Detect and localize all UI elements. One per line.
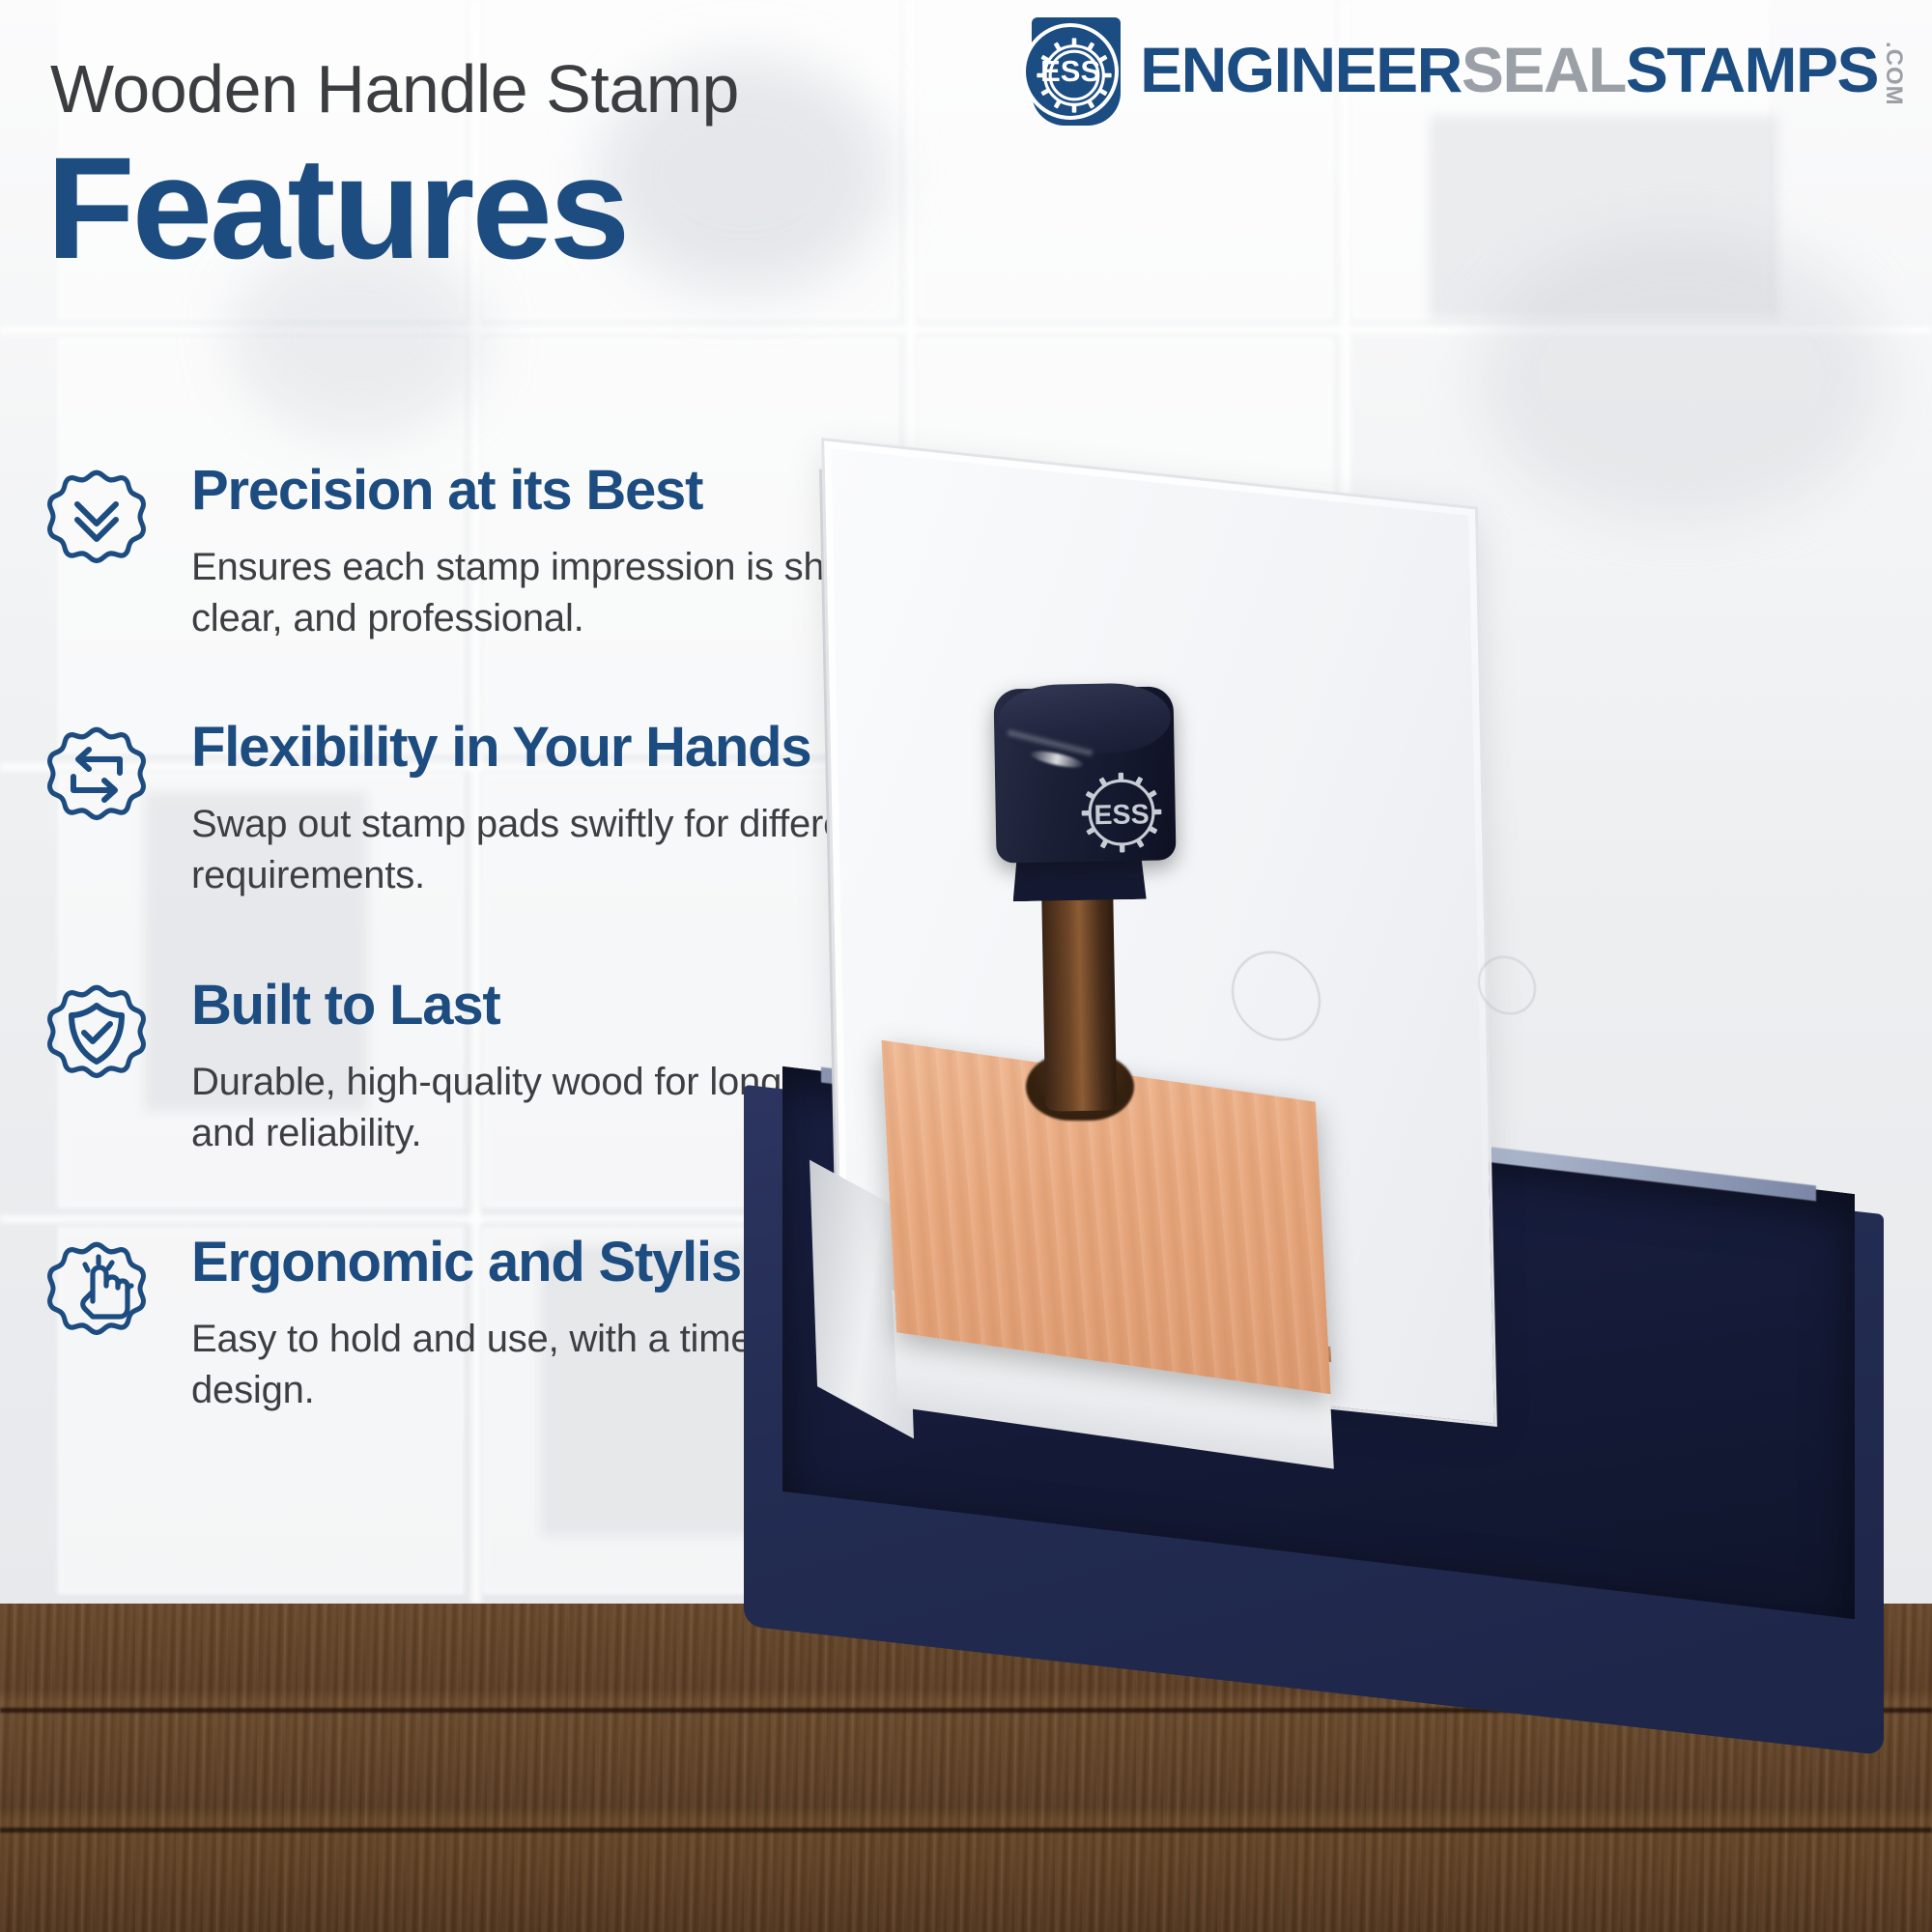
bg-blur-shape [1478, 232, 1884, 522]
handle-ess-logo-icon: ESS [1069, 758, 1174, 863]
product-photo: ESS [898, 512, 1932, 1932]
brand-word-tld: .COM [1882, 42, 1905, 106]
stamp-knob-top [998, 682, 1171, 754]
shield-check-badge-icon [39, 971, 155, 1087]
swap-arrows-badge-icon [39, 713, 155, 829]
brand-word-stamps: STAMPS [1626, 38, 1878, 101]
page-title: Features [46, 135, 627, 280]
brand-word-engineer: ENGINEER [1140, 38, 1462, 101]
double-chevron-down-badge-icon [39, 456, 155, 572]
handle-ess-text: ESS [1094, 799, 1150, 831]
brand-wordmark: ENGINEERSEALSTAMPS.COM [1140, 38, 1905, 106]
ess-badge-icon: ESS [1022, 17, 1126, 126]
brand-word-seal: SEAL [1462, 38, 1626, 101]
stamp-wooden-stem [1041, 868, 1117, 1111]
pointing-hand-badge-icon [39, 1228, 155, 1344]
ess-monogram: ESS [1040, 54, 1100, 89]
page-subtitle: Wooden Handle Stamp [50, 50, 739, 128]
brand-logo[interactable]: ESS ENGINEERSEALSTAMPS.COM [1022, 17, 1905, 126]
